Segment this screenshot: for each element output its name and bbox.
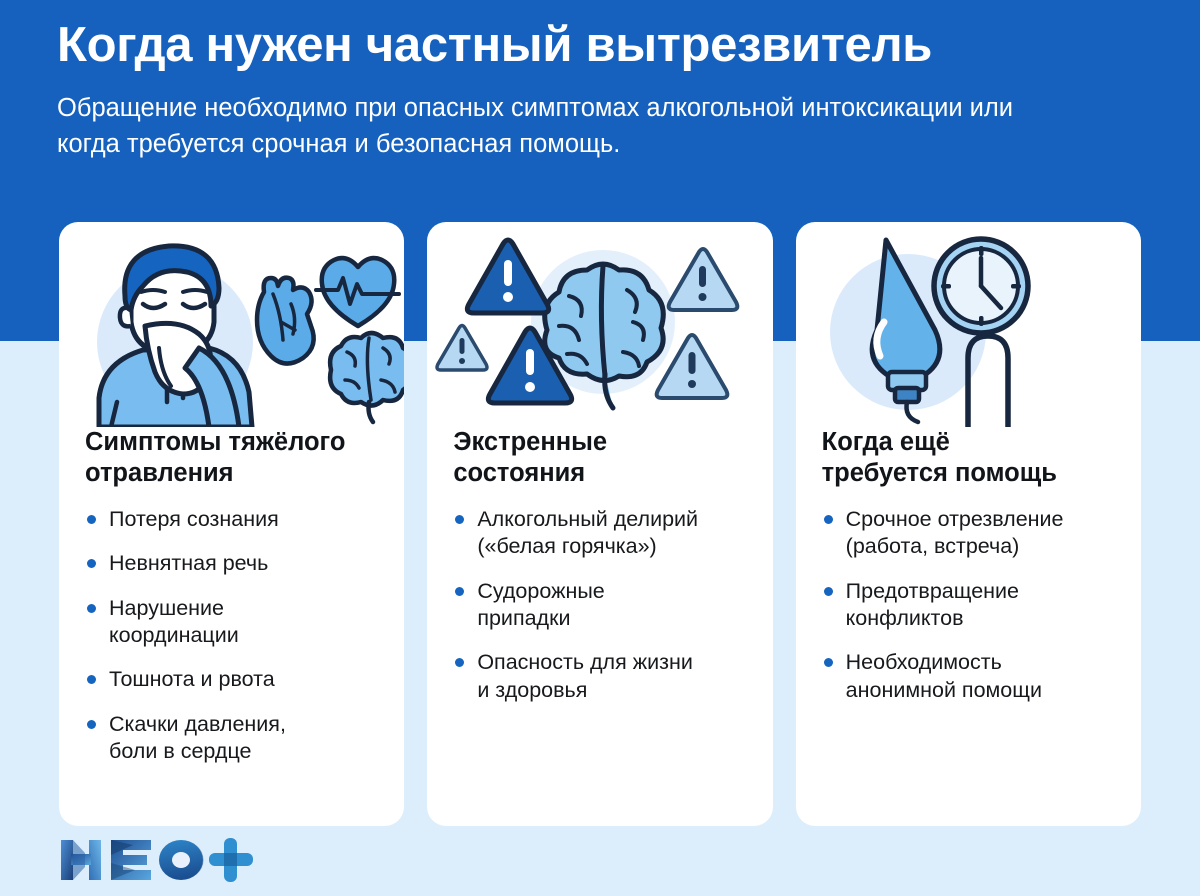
card-list: Алкогольный делирий («белая горячка») Су… [453, 506, 746, 704]
logo-letter-n [61, 840, 101, 880]
card-list: Срочное отрезвление (работа, встреча) Пр… [822, 506, 1115, 704]
warning-triangle-icon-1 [468, 240, 549, 313]
page-title: Когда нужен частный вытрезвитель [57, 18, 1147, 73]
illustration-iv-drip-clock [796, 222, 1141, 427]
list-item: Скачки давления, боли в сердце [85, 711, 378, 766]
card-list: Потеря сознания Невнятная речь Нарушение… [85, 506, 378, 765]
neo-plus-logo [57, 837, 257, 883]
bullet-icon [87, 675, 96, 684]
bullet-icon [455, 658, 464, 667]
list-item: Опасность для жизни и здоровья [453, 649, 746, 704]
bullet-icon [87, 515, 96, 524]
bullet-icon [87, 559, 96, 568]
card-severe-poisoning: Симптомы тяжёлого отравления Потеря созн… [59, 222, 404, 826]
card-body: Когда ещё требуется помощь Срочное отрез… [796, 427, 1141, 724]
list-item-label: Алкогольный делирий («белая горячка») [477, 507, 698, 558]
list-item-label: Необходимость анонимной помощи [846, 650, 1042, 701]
bullet-icon [455, 587, 464, 596]
cards-row: Симптомы тяжёлого отравления Потеря созн… [59, 222, 1141, 826]
heart-pulse-icon [316, 258, 399, 326]
list-item: Потеря сознания [85, 506, 378, 533]
list-item: Тошнота и рвота [85, 666, 378, 693]
list-item: Срочное отрезвление (работа, встреча) [822, 506, 1115, 561]
list-item-label: Потеря сознания [109, 507, 279, 531]
card-emergency-states: Экстренные состояния Алкогольный делирий… [427, 222, 772, 826]
card-body: Симптомы тяжёлого отравления Потеря созн… [59, 427, 404, 785]
bullet-icon [455, 515, 464, 524]
card-body: Экстренные состояния Алкогольный делирий… [427, 427, 772, 724]
card-heading: Когда ещё требуется помощь [822, 427, 1115, 488]
list-item-label: Невнятная речь [109, 551, 268, 575]
list-item-label: Опасность для жизни и здоровья [477, 650, 693, 701]
list-item-label: Срочное отрезвление (работа, встреча) [846, 507, 1064, 558]
logo-letter-o [159, 840, 204, 880]
page-subtitle: Обращение необходимо при опасных симптом… [57, 90, 1067, 162]
list-item-label: Тошнота и рвота [109, 667, 275, 691]
card-heading: Экстренные состояния [453, 427, 746, 488]
list-item: Нарушение координации [85, 595, 378, 650]
list-item: Алкогольный делирий («белая горячка») [453, 506, 746, 561]
logo-letter-e [111, 840, 151, 880]
list-item: Невнятная речь [85, 550, 378, 577]
warning-triangle-icon-4 [669, 249, 738, 310]
heart-anatomical-icon [257, 278, 314, 364]
illustration-brain-warning-triangles [427, 222, 772, 427]
logo-plus-icon [209, 838, 253, 882]
clock-icon [934, 239, 1028, 333]
bullet-icon [824, 515, 833, 524]
list-item-label: Судорожные припадки [477, 579, 604, 630]
illustration-sick-man-heart-brain [59, 222, 404, 427]
list-item: Судорожные припадки [453, 578, 746, 633]
header-content: Когда нужен частный вытрезвитель Обращен… [57, 18, 1147, 162]
infographic-page: Когда нужен частный вытрезвитель Обращен… [0, 0, 1200, 896]
footer [57, 836, 257, 884]
bullet-icon [87, 604, 96, 613]
warning-triangle-icon-3 [437, 326, 487, 371]
brain-icon [330, 333, 404, 422]
list-item: Необходимость анонимной помощи [822, 649, 1115, 704]
bullet-icon [87, 720, 96, 729]
bullet-icon [824, 587, 833, 596]
list-item-label: Скачки давления, боли в сердце [109, 712, 286, 763]
list-item-label: Предотвращение конфликтов [846, 579, 1019, 630]
list-item-label: Нарушение координации [109, 596, 239, 647]
card-heading: Симптомы тяжёлого отравления [85, 427, 378, 488]
list-item: Предотвращение конфликтов [822, 578, 1115, 633]
card-other-help: Когда ещё требуется помощь Срочное отрез… [796, 222, 1141, 826]
bullet-icon [824, 658, 833, 667]
